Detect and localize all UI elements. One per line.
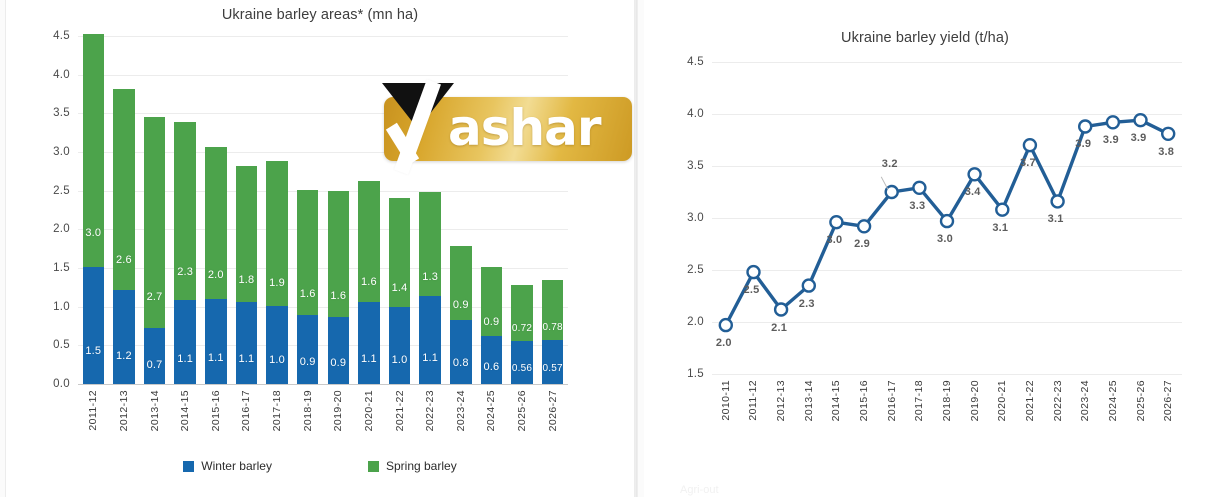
x-axis-tick-label: 2021-22 [394,390,406,431]
line-data-point[interactable] [1024,139,1036,151]
x-axis-tick-label: 2017-18 [913,380,925,421]
line-data-point[interactable] [720,319,732,331]
bar-value-label-spring: 2.7 [144,291,165,303]
bar-value-label-winter: 0.9 [328,357,349,369]
x-axis-tick-label: 2026-27 [547,390,559,431]
x-axis-tick-label: 2022-23 [1052,380,1064,421]
line-data-point[interactable] [830,216,842,228]
gridline [78,75,568,76]
bar-column[interactable]: 1.12.3 [174,122,195,384]
x-axis-tick-label: 2016-17 [240,390,252,431]
bar-value-label-spring: 1.3 [419,271,440,283]
bar-value-label-spring: 2.3 [174,266,195,278]
line-value-label: 3.4 [965,186,981,198]
barley-areas-y-axis: 0.00.51.01.52.02.53.03.54.04.5 [26,36,70,384]
x-axis-tick-label: 2024-25 [1107,380,1119,421]
barley-areas-legend: Winter barley Spring barley [6,459,634,473]
x-axis-tick-label: 2023-24 [1079,380,1091,421]
barley-yield-x-axis: 2010-112011-122012-132013-142014-152015-… [712,380,1182,444]
barley-areas-chart-title: Ukraine barley areas* (mn ha) [6,7,634,23]
bar-segment-winter[interactable] [83,267,104,384]
line-data-point[interactable] [996,204,1008,216]
legend-label-spring: Spring barley [386,459,457,473]
line-data-point[interactable] [858,220,870,232]
x-axis-tick-label: 2013-14 [149,390,161,431]
bar-column[interactable]: 0.91.6 [328,191,349,384]
y-axis-tick-label: 1.5 [53,262,70,274]
y-axis-tick-label: 2.0 [687,316,704,328]
barley-yield-chart-title: Ukraine barley yield (t/ha) [644,30,1206,46]
line-value-label: 2.1 [771,322,787,334]
bar-value-label-winter: 1.0 [266,354,287,366]
x-axis-tick-label: 2026-27 [1162,380,1174,421]
x-axis-tick-label: 2024-25 [485,390,497,431]
gridline [78,36,568,37]
barley-areas-x-axis: 2011-122012-132013-142014-152015-162016-… [78,390,568,454]
x-axis-tick-label: 2025-26 [516,390,528,431]
line-value-label: 3.0 [826,234,842,246]
bar-column[interactable]: 0.80.9 [450,246,471,384]
y-axis-tick-label: 4.0 [53,69,70,81]
y-axis-tick-label: 1.5 [687,368,704,380]
bar-value-label-winter: 1.1 [205,352,226,364]
x-axis-tick-label: 2023-24 [455,390,467,431]
line-value-label: 3.3 [909,200,925,212]
bar-segment-winter[interactable] [328,317,349,384]
bar-value-label-winter: 0.57 [542,363,563,374]
line-value-label: 3.7 [1020,157,1036,169]
bar-value-label-winter: 0.6 [481,361,502,373]
y-axis-tick-label: 2.0 [53,223,70,235]
line-value-label: 2.0 [716,337,732,349]
x-axis-tick-label: 2011-12 [747,380,759,421]
bar-value-label-winter: 0.9 [297,356,318,368]
bar-segment-winter[interactable] [236,302,257,384]
y-axis-tick-label: 0.5 [53,339,70,351]
line-value-label: 3.9 [1103,134,1119,146]
y-axis-tick-label: 4.5 [53,30,70,42]
line-value-label: 2.5 [744,284,760,296]
x-axis-tick-label: 2025-26 [1135,380,1147,421]
line-value-label: 3.1 [1048,213,1064,225]
y-axis-tick-label: 2.5 [687,264,704,276]
x-axis-tick-label: 2020-21 [996,380,1008,421]
bar-column[interactable]: 1.22.6 [113,89,134,384]
bar-value-label-spring: 1.6 [328,290,349,302]
line-data-point[interactable] [1107,116,1119,128]
x-axis-tick-label: 2012-13 [118,390,130,431]
y-axis-tick-label: 0.0 [53,378,70,390]
line-data-point[interactable] [1079,121,1091,133]
line-value-label: 3.1 [992,222,1008,234]
bar-value-label-winter: 1.1 [419,352,440,364]
x-axis-tick-label: 2012-13 [775,380,787,421]
bar-segment-winter[interactable] [144,328,165,384]
line-data-point[interactable] [913,182,925,194]
legend-item-spring-barley: Spring barley [368,459,457,473]
bar-column[interactable]: 1.12.0 [205,147,226,384]
bar-value-label-winter: 0.56 [511,363,532,374]
bar-value-label-spring: 3.0 [83,227,104,239]
bar-column[interactable]: 1.01.9 [266,161,287,384]
x-axis-tick-label: 2014-15 [179,390,191,431]
bar-segment-winter[interactable] [450,320,471,384]
x-axis-tick-label: 2013-14 [803,380,815,421]
barley-areas-chart-panel: Ukraine barley areas* (mn ha) 1.53.01.22… [6,0,634,497]
x-axis-tick-label: 2018-19 [941,380,953,421]
legend-label-winter: Winter barley [201,459,272,473]
legend-swatch-spring [368,461,379,472]
bar-column[interactable]: 0.60.9 [481,267,502,384]
bar-value-label-spring: 0.9 [450,299,471,311]
bar-value-label-winter: 1.1 [236,353,257,365]
y-axis-tick-label: 4.5 [687,56,704,68]
bar-segment-winter[interactable] [113,290,134,384]
bar-value-label-spring: 1.8 [236,274,257,286]
x-axis-tick-label: 2020-21 [363,390,375,431]
bar-segment-winter[interactable] [419,296,440,384]
line-data-point[interactable] [1135,114,1147,126]
screenshot-root: Ukraine barley areas* (mn ha) 1.53.01.22… [0,0,1206,497]
line-data-point[interactable] [803,280,815,292]
x-axis-tick-label: 2017-18 [271,390,283,431]
legend-swatch-winter [183,461,194,472]
y-axis-tick-label: 1.0 [53,301,70,313]
y-axis-tick-label: 3.5 [53,107,70,119]
bar-column[interactable]: 1.53.0 [83,34,104,384]
gridline [712,374,1182,375]
x-axis-tick-label: 2010-11 [720,380,732,421]
line-value-label: 3.8 [1158,146,1174,158]
line-data-point[interactable] [1162,128,1174,140]
bar-value-label-winter: 1.1 [358,353,379,365]
bar-value-label-spring: 0.9 [481,316,502,328]
x-axis-tick-label: 2016-17 [886,380,898,421]
bar-value-label-winter: 1.5 [83,345,104,357]
line-value-label: 3.9 [1075,138,1091,150]
line-data-point[interactable] [748,266,760,278]
bar-value-label-spring: 1.9 [266,277,287,289]
x-axis-tick-label: 2021-22 [1024,380,1036,421]
bar-segment-winter[interactable] [358,302,379,384]
bar-value-label-winter: 0.8 [450,357,471,369]
bar-segment-winter[interactable] [389,307,410,384]
x-axis-tick-label: 2011-12 [87,390,99,431]
x-axis-tick-label: 2014-15 [830,380,842,421]
line-value-label: 3.9 [1131,132,1147,144]
line-data-point[interactable] [969,168,981,180]
barley-yield-y-axis: 1.52.02.53.03.54.04.5 [660,62,704,374]
bar-column[interactable]: 0.570.78 [542,280,563,384]
y-axis-tick-label: 4.0 [687,108,704,120]
line-data-point[interactable] [1052,195,1064,207]
line-value-label: 3.2 [882,158,898,170]
x-axis-tick-label: 2015-16 [210,390,222,431]
legend-item-winter-barley: Winter barley [183,459,272,473]
x-axis-tick-label: 2015-16 [858,380,870,421]
line-data-point[interactable] [775,304,787,316]
bar-value-label-spring: 1.4 [389,282,410,294]
line-value-label: 2.9 [854,238,870,250]
bar-segment-winter[interactable] [174,300,195,384]
bar-value-label-spring: 2.0 [205,269,226,281]
bar-column[interactable]: 1.11.3 [419,192,440,384]
x-axis-tick-label: 2022-23 [424,390,436,431]
bar-value-label-spring: 1.6 [358,276,379,288]
bar-value-label-spring: 0.72 [511,323,532,334]
y-axis-tick-label: 3.5 [687,160,704,172]
bar-value-label-spring: 2.6 [113,254,134,266]
bar-value-label-winter: 1.0 [389,354,410,366]
bar-segment-winter[interactable] [266,306,287,384]
y-axis-tick-label: 3.0 [687,212,704,224]
watermark-brand-text: ashar [448,103,601,153]
y-axis-tick-label: 2.5 [53,185,70,197]
footer-note-partial: Agri-out [680,484,719,496]
panel-divider [635,0,638,497]
bar-column[interactable]: 1.01.4 [389,198,410,384]
gridline [78,384,568,385]
bar-column[interactable]: 1.11.6 [358,181,379,384]
bar-segment-winter[interactable] [297,315,318,384]
bar-value-label-spring: 0.78 [542,322,563,333]
bar-value-label-winter: 0.7 [144,359,165,371]
bar-segment-winter[interactable] [205,299,226,384]
line-data-point[interactable] [941,215,953,227]
x-axis-tick-label: 2019-20 [332,390,344,431]
bar-column[interactable]: 1.11.8 [236,166,257,384]
barley-yield-chart-panel: Ukraine barley yield (t/ha) 2.02.52.12.3… [644,0,1206,497]
x-axis-tick-label: 2019-20 [969,380,981,421]
bar-value-label-spring: 1.6 [297,288,318,300]
bar-column[interactable]: 0.91.6 [297,190,318,384]
line-value-label: 2.3 [799,298,815,310]
bar-value-label-winter: 1.2 [113,350,134,362]
barley-yield-plot-area: 2.02.52.12.33.02.93.23.33.03.43.13.73.13… [712,62,1182,374]
line-value-label: 3.0 [937,233,953,245]
yashar-watermark-logo: ashar [374,83,632,161]
x-axis-tick-label: 2018-19 [302,390,314,431]
bar-column[interactable]: 0.72.7 [144,117,165,384]
bar-column[interactable]: 0.560.72 [511,285,532,384]
y-axis-tick-label: 3.0 [53,146,70,158]
bar-value-label-winter: 1.1 [174,353,195,365]
